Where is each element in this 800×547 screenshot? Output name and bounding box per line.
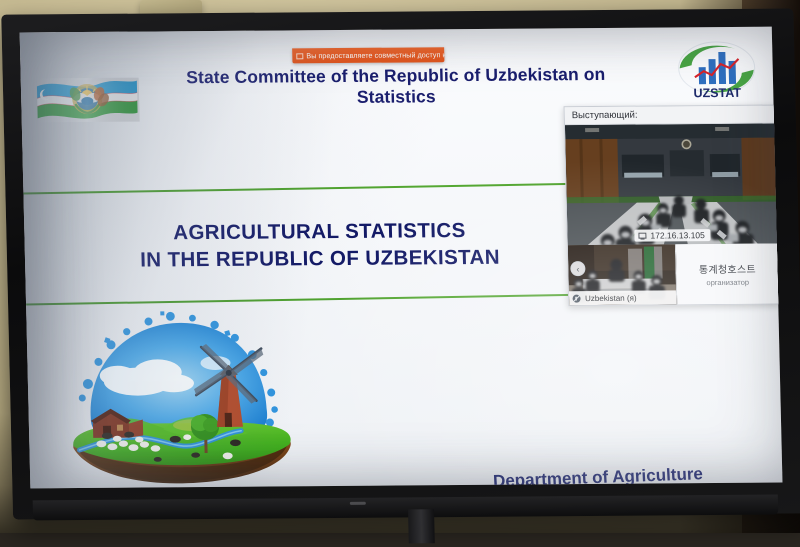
uzbekistan-flag-emblem-icon: [35, 72, 140, 127]
uzstat-logo-text: UZSTAT: [693, 86, 741, 100]
television: State Committee of the Republic of Uzbek…: [1, 8, 800, 519]
screen-share-icon: [638, 232, 646, 239]
host-role: организатор: [706, 278, 749, 287]
host-participant-tile[interactable]: 통계청호스트 организатор: [676, 244, 779, 305]
video-conference-panel[interactable]: Выступающий:: [564, 105, 781, 307]
tv-stand: [408, 509, 435, 543]
main-title-line-2: IN THE REPUBLIC OF UZBEKISTAN: [85, 243, 556, 274]
participant-thumbnail-strip[interactable]: ‹: [568, 244, 779, 306]
speaker-label-bar: Выступающий:: [565, 106, 775, 126]
ip-address-badge: 172.16.13.105: [634, 229, 711, 242]
uzstat-logo-icon: UZSTAT: [670, 37, 764, 108]
screen-share-icon: [296, 53, 303, 59]
tv-brand-mark: [350, 502, 366, 505]
screen-share-banner-text: Вы предоставляете совместный доступ к М.…: [306, 50, 444, 60]
audio-muted-icon: [572, 294, 581, 303]
main-title-line-1: AGRICULTURAL STATISTICS: [84, 216, 555, 247]
slide-header-title: State Committee of the Republic of Uzbek…: [161, 64, 632, 110]
participant-name-text: Uzbekistan (я): [585, 293, 637, 302]
chevron-left-icon[interactable]: ‹: [570, 261, 585, 276]
participant-video-tile[interactable]: Uzbekistan (я): [568, 244, 677, 305]
tv-screen: State Committee of the Republic of Uzbek…: [20, 27, 783, 489]
host-name: 통계청호스트: [699, 261, 756, 276]
speaker-label: Выступающий:: [572, 110, 638, 122]
ip-address-text: 172.16.13.105: [650, 230, 705, 240]
screen-share-banner[interactable]: Вы предоставляете совместный доступ к М.…: [292, 47, 444, 63]
speaker-video-tile[interactable]: 172.16.13.105: [565, 124, 778, 246]
participant-name-bar: Uzbekistan (я): [569, 290, 677, 305]
slide-main-title: AGRICULTURAL STATISTICS IN THE REPUBLIC …: [84, 216, 555, 274]
farm-island-illustration: [64, 308, 300, 488]
